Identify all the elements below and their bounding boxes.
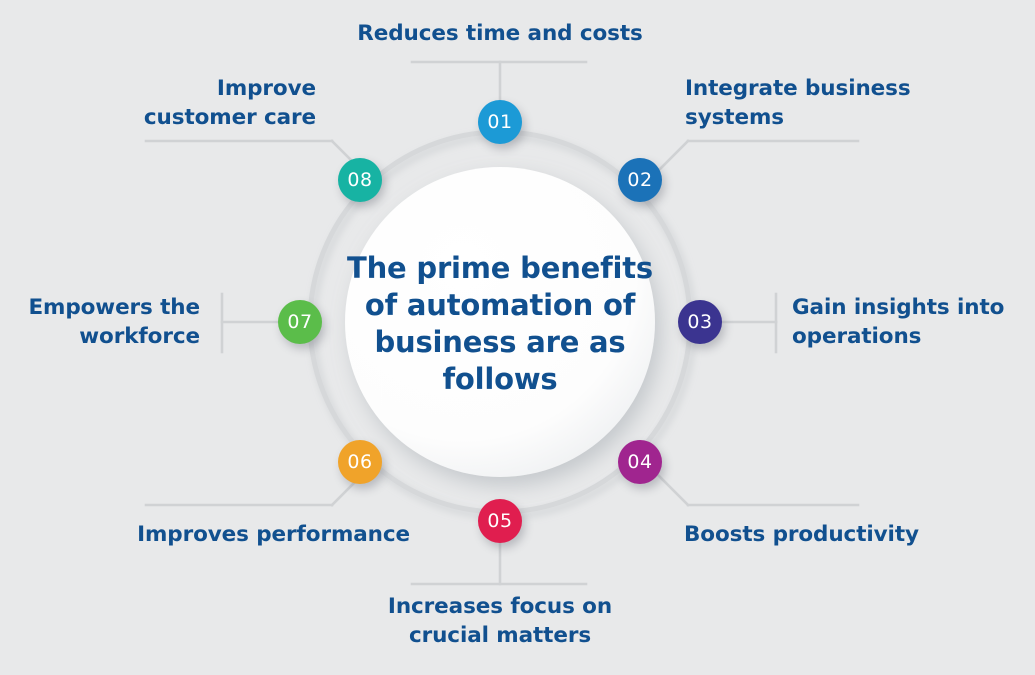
node-label-05-line-2: crucial matters bbox=[348, 621, 652, 650]
node-badge-07-number: 07 bbox=[287, 311, 312, 333]
node-badge-02-number: 02 bbox=[627, 169, 652, 191]
center-heading: The prime benefits of automation of busi… bbox=[345, 250, 655, 398]
node-badge-05-number: 05 bbox=[487, 510, 512, 532]
node-badge-06[interactable]: 06 bbox=[338, 440, 382, 484]
node-badge-02[interactable]: 02 bbox=[618, 158, 662, 202]
node-label-07[interactable]: Empowers the workforce bbox=[0, 293, 200, 351]
node-label-04-line-1: Boosts productivity bbox=[684, 520, 919, 549]
node-badge-03-number: 03 bbox=[687, 311, 712, 333]
center-line-4: follows bbox=[345, 361, 655, 398]
center-line-2: of automation of bbox=[345, 287, 655, 324]
node-label-08[interactable]: Improve customer care bbox=[0, 74, 316, 132]
center-line-3: business are as bbox=[345, 324, 655, 361]
node-label-07-line-2: workforce bbox=[0, 322, 200, 351]
node-badge-08-number: 08 bbox=[347, 169, 372, 191]
node-badge-03[interactable]: 03 bbox=[678, 300, 722, 344]
node-label-01[interactable]: Reduces time and costs bbox=[348, 19, 652, 48]
node-badge-01-number: 01 bbox=[487, 111, 512, 133]
infographic-canvas: The prime benefits of automation of busi… bbox=[0, 0, 1035, 675]
node-badge-04-number: 04 bbox=[627, 451, 652, 473]
node-badge-04[interactable]: 04 bbox=[618, 440, 662, 484]
node-badge-06-number: 06 bbox=[347, 451, 372, 473]
node-label-04[interactable]: Boosts productivity bbox=[684, 520, 919, 549]
node-label-06-line-1: Improves performance bbox=[0, 520, 410, 549]
node-badge-07[interactable]: 07 bbox=[278, 300, 322, 344]
connector-04-stem bbox=[654, 471, 688, 505]
node-label-02-line-1: Integrate business bbox=[685, 74, 911, 103]
node-label-02-line-2: systems bbox=[685, 103, 911, 132]
node-label-07-line-1: Empowers the bbox=[0, 293, 200, 322]
node-label-08-line-2: customer care bbox=[0, 103, 316, 132]
node-label-06[interactable]: Improves performance bbox=[0, 520, 410, 549]
node-label-03-line-1: Gain insights into bbox=[792, 293, 1004, 322]
node-badge-05[interactable]: 05 bbox=[478, 499, 522, 543]
node-badge-08[interactable]: 08 bbox=[338, 158, 382, 202]
node-label-01-line-1: Reduces time and costs bbox=[348, 19, 652, 48]
node-label-02[interactable]: Integrate business systems bbox=[685, 74, 911, 132]
node-badge-01[interactable]: 01 bbox=[478, 100, 522, 144]
center-line-1: The prime benefits bbox=[345, 250, 655, 287]
node-label-08-line-1: Improve bbox=[0, 74, 316, 103]
node-label-05-line-1: Increases focus on bbox=[348, 592, 652, 621]
node-label-03-line-2: operations bbox=[792, 322, 1004, 351]
node-label-03[interactable]: Gain insights into operations bbox=[792, 293, 1004, 351]
node-label-05[interactable]: Increases focus on crucial matters bbox=[348, 592, 652, 650]
